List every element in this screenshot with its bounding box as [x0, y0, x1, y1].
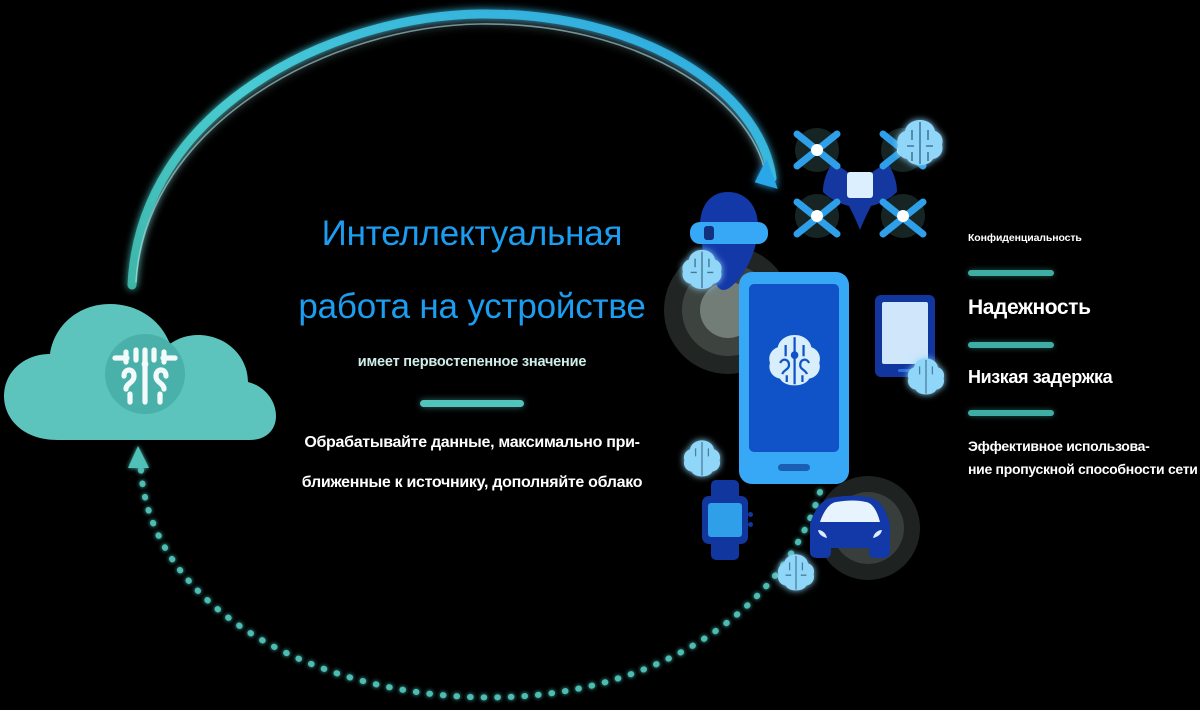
- body-text-line2: ближенные к источнику, дополняйте облако: [262, 475, 682, 491]
- brain-icon: [676, 243, 728, 295]
- benefit-label-privacy: Конфиденциальность: [968, 232, 1196, 244]
- benefit-label-bandwidth-line2: ние пропускной способности сети: [968, 458, 1196, 481]
- watch-crown[interactable]: [748, 512, 753, 517]
- benefit-label-low-latency: Низкая задержка: [968, 367, 1196, 388]
- brain-icon: [772, 548, 820, 596]
- page-title-line1: Интеллектуальная: [262, 216, 682, 251]
- brain-circuit-icon: [105, 334, 185, 414]
- benefit-label-reliability: Надежность: [968, 296, 1196, 320]
- benefits-list: Конфиденциальность Надежность Низкая зад…: [968, 232, 1196, 481]
- divider: [420, 400, 524, 407]
- subtitle: имеет первостепенное значение: [262, 354, 682, 370]
- page-title-line2: работа на устройстве: [262, 289, 682, 324]
- phone-home-button[interactable]: [778, 464, 810, 471]
- watch-face: [708, 503, 742, 537]
- cloud-ai-icon: [0, 290, 290, 470]
- benefit-label-bandwidth-line1: Эффективное использова-: [968, 435, 1196, 458]
- vr-goggles: [690, 222, 768, 244]
- headline-block: Интеллектуальная работа на устройстве им…: [262, 216, 682, 491]
- drone-camera: [847, 172, 873, 198]
- brain-icon: [902, 352, 950, 400]
- brain-icon: [890, 112, 950, 172]
- brain-icon: [678, 434, 726, 482]
- smartphone-icon: [735, 268, 853, 488]
- infographic-canvas: Интеллектуальная работа на устройстве им…: [0, 0, 1200, 710]
- smartwatch-icon: [694, 478, 756, 562]
- watch-button[interactable]: [748, 522, 753, 527]
- body-text-line1: Обрабатывайте данные, максимально при-: [262, 435, 682, 451]
